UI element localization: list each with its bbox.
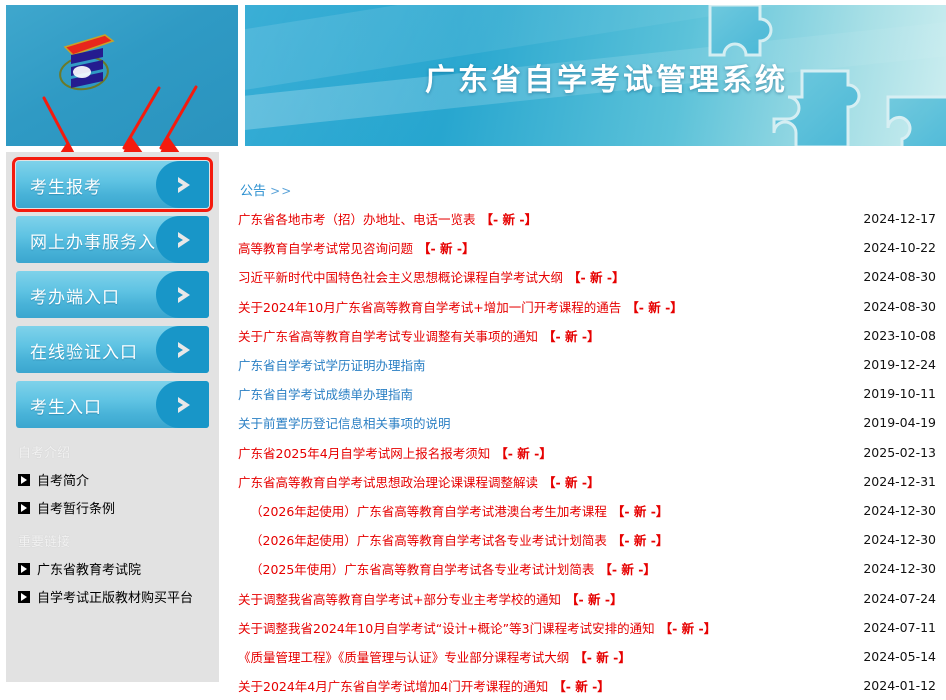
announcement-row[interactable]: 关于广东省高等教育自学考试专业调整有关事项的通知【- 新 -】2023-10-0… <box>238 321 940 350</box>
sidebar-link-label: 广东省教育考试院 <box>37 559 141 578</box>
announcement-title[interactable]: 习近平新时代中国特色社会主义思想概论课程自学考试大纲【- 新 -】 <box>238 267 625 286</box>
announcement-date: 2019-10-11 <box>863 386 940 401</box>
sidebar-button-label: 考办端入口 <box>30 283 120 308</box>
announcement-title[interactable]: （2025年使用）广东省高等教育自学考试各专业考试计划简表【- 新 -】 <box>238 559 656 578</box>
chevron-right-icon <box>173 284 195 306</box>
announcement-title[interactable]: 广东省自学考试成绩单办理指南 <box>238 384 413 403</box>
announcement-row[interactable]: （2025年使用）广东省高等教育自学考试各专业考试计划简表【- 新 -】2024… <box>238 554 940 583</box>
announcement-date: 2024-12-30 <box>863 561 940 576</box>
notice-section-header[interactable]: 公告 >> <box>240 180 292 199</box>
announcement-row[interactable]: 关于调整我省高等教育自学考试+部分专业主考学校的通知【- 新 -】2024-07… <box>238 583 940 612</box>
new-badge: 【- 新 -】 <box>574 650 631 665</box>
announcement-date: 2024-08-30 <box>863 269 940 284</box>
announcement-title[interactable]: 关于广东省高等教育自学考试专业调整有关事项的通知【- 新 -】 <box>238 326 600 345</box>
new-badge: 【- 新 -】 <box>543 475 600 490</box>
chevron-right-icon <box>173 339 195 361</box>
announcement-title[interactable]: （2026年起使用）广东省高等教育自学考试各专业考试计划简表【- 新 -】 <box>238 530 668 549</box>
announcement-date: 2024-08-30 <box>863 299 940 314</box>
sidebar-link-interim-regulations[interactable]: 自考暂行条例 <box>18 498 219 517</box>
announcement-date: 2024-05-14 <box>863 649 940 664</box>
announcement-list: 广东省各地市考（招）办地址、电话一览表【- 新 -】2024-12-17高等教育… <box>238 204 940 700</box>
sidebar-button-exam-office-entry[interactable]: 考办端入口 <box>16 271 209 318</box>
new-badge: 【- 新 -】 <box>599 562 656 577</box>
arrow-square-icon <box>18 502 30 514</box>
announcement-row[interactable]: 关于2024年4月广东省自学考试增加4门开考课程的通知【- 新 -】2024-0… <box>238 671 940 700</box>
arrow-square-icon <box>18 474 30 486</box>
arrow-square-icon <box>18 591 30 603</box>
announcement-date: 2024-07-11 <box>863 620 940 635</box>
announcement-row[interactable]: 关于前置学历登记信息相关事项的说明2019-04-19 <box>238 408 940 437</box>
chevron-right-icon <box>173 229 195 251</box>
announcement-date: 2024-01-12 <box>863 678 940 693</box>
notice-more-link[interactable]: >> <box>270 184 292 198</box>
announcement-date: 2024-12-17 <box>863 211 940 226</box>
announcement-row[interactable]: 广东省自学考试成绩单办理指南2019-10-11 <box>238 379 940 408</box>
announcement-title[interactable]: 高等教育自学考试常见咨询问题【- 新 -】 <box>238 238 475 257</box>
announcement-date: 2019-12-24 <box>863 357 940 372</box>
new-badge: 【- 新 -】 <box>568 270 625 285</box>
announcement-title[interactable]: 广东省各地市考（招）办地址、电话一览表【- 新 -】 <box>238 209 537 228</box>
announcement-row[interactable]: 关于调整我省2024年10月自学考试“设计+概论”等3门课程考试安排的通知【- … <box>238 613 940 642</box>
announcement-title[interactable]: 广东省2025年4月自学考试网上报名报考须知【- 新 -】 <box>238 443 552 462</box>
main-content: 公告 >> 广东省各地市考（招）办地址、电话一览表【- 新 -】2024-12-… <box>238 152 940 682</box>
announcement-date: 2024-12-31 <box>863 474 940 489</box>
announcement-row[interactable]: 广东省各地市考（招）办地址、电话一览表【- 新 -】2024-12-17 <box>238 204 940 233</box>
sidebar-section-title-intro: 自考介绍 <box>18 442 219 461</box>
announcement-date: 2024-07-24 <box>863 591 940 606</box>
announcement-row[interactable]: 高等教育自学考试常见咨询问题【- 新 -】2024-10-22 <box>238 233 940 262</box>
sidebar: 考生报考 网上办事服务入口 考办端入口 在线验证入口 考生入口 自考介绍 <box>6 152 219 682</box>
announcement-row[interactable]: 《质量管理工程》《质量管理与认证》专业部分课程考试大纲【- 新 -】2024-0… <box>238 642 940 671</box>
sidebar-link-gd-exam-authority[interactable]: 广东省教育考试院 <box>18 559 219 578</box>
announcement-row[interactable]: （2026年起使用）广东省高等教育自学考试港澳台考生加考课程【- 新 -】202… <box>238 496 940 525</box>
announcement-date: 2025-02-13 <box>863 445 940 460</box>
sidebar-button-candidate-entry[interactable]: 考生入口 <box>16 381 209 428</box>
announcement-row[interactable]: 广东省2025年4月自学考试网上报名报考须知【- 新 -】2025-02-13 <box>238 438 940 467</box>
page-title: 广东省自学考试管理系统 <box>425 55 788 99</box>
announcement-title[interactable]: 《质量管理工程》《质量管理与认证》专业部分课程考试大纲【- 新 -】 <box>238 647 631 666</box>
announcement-title[interactable]: 关于2024年10月广东省高等教育自学考试+增加一门开考课程的通告【- 新 -】 <box>238 297 683 316</box>
sidebar-link-label: 自考简介 <box>37 470 89 489</box>
announcement-title[interactable]: 关于调整我省高等教育自学考试+部分专业主考学校的通知【- 新 -】 <box>238 589 623 608</box>
sidebar-button-label: 考生报考 <box>30 173 102 198</box>
announcement-row[interactable]: （2026年起使用）广东省高等教育自学考试各专业考试计划简表【- 新 -】202… <box>238 525 940 554</box>
notice-label: 公告 <box>240 184 266 199</box>
announcement-date: 2024-12-30 <box>863 532 940 547</box>
sidebar-button-online-verification-entry[interactable]: 在线验证入口 <box>16 326 209 373</box>
sidebar-link-label: 自考暂行条例 <box>37 498 115 517</box>
announcement-title[interactable]: （2026年起使用）广东省高等教育自学考试港澳台考生加考课程【- 新 -】 <box>238 501 668 520</box>
announcement-title[interactable]: 关于调整我省2024年10月自学考试“设计+概论”等3门课程考试安排的通知【- … <box>238 618 716 637</box>
new-badge: 【- 新 -】 <box>660 621 717 636</box>
announcement-date: 2019-04-19 <box>863 415 940 430</box>
chevron-right-icon <box>173 394 195 416</box>
new-badge: 【- 新 -】 <box>612 533 669 548</box>
announcement-row[interactable]: 习近平新时代中国特色社会主义思想概论课程自学考试大纲【- 新 -】2024-08… <box>238 262 940 291</box>
sidebar-button-kaosheng-baokao[interactable]: 考生报考 <box>16 161 209 208</box>
sidebar-link-textbook-platform[interactable]: 自学考试正版教材购买平台 <box>18 587 219 606</box>
announcement-title[interactable]: 广东省高等教育自学考试思想政治理论课课程调整解读【- 新 -】 <box>238 472 600 491</box>
sidebar-button-label: 在线验证入口 <box>30 338 138 363</box>
new-badge: 【- 新 -】 <box>481 212 538 227</box>
logo-panel <box>6 5 238 146</box>
announcement-date: 2023-10-08 <box>863 328 940 343</box>
announcement-date: 2024-12-30 <box>863 503 940 518</box>
new-badge: 【- 新 -】 <box>626 300 683 315</box>
announcement-title[interactable]: 关于前置学历登记信息相关事项的说明 <box>238 413 451 432</box>
new-badge: 【- 新 -】 <box>495 446 552 461</box>
sidebar-link-self-study-intro[interactable]: 自考简介 <box>18 470 219 489</box>
chevron-right-icon <box>173 174 195 196</box>
arrow-square-icon <box>18 563 30 575</box>
gdeea-logo-icon <box>51 25 121 105</box>
new-badge: 【- 新 -】 <box>553 679 610 694</box>
announcement-row[interactable]: 关于2024年10月广东省高等教育自学考试+增加一门开考课程的通告【- 新 -】… <box>238 292 940 321</box>
sidebar-button-label: 考生入口 <box>30 393 102 418</box>
announcement-title[interactable]: 广东省自学考试学历证明办理指南 <box>238 355 426 374</box>
new-badge: 【- 新 -】 <box>418 241 475 256</box>
announcement-row[interactable]: 广东省高等教育自学考试思想政治理论课课程调整解读【- 新 -】2024-12-3… <box>238 467 940 496</box>
title-banner: 广东省自学考试管理系统 <box>245 5 946 146</box>
new-badge: 【- 新 -】 <box>612 504 669 519</box>
new-badge: 【- 新 -】 <box>543 329 600 344</box>
announcement-row[interactable]: 广东省自学考试学历证明办理指南2019-12-24 <box>238 350 940 379</box>
sidebar-button-online-service-entry[interactable]: 网上办事服务入口 <box>16 216 209 263</box>
announcement-date: 2024-10-22 <box>863 240 940 255</box>
sidebar-section-title-links: 重要链接 <box>18 531 219 550</box>
sidebar-button-label: 网上办事服务入口 <box>30 228 174 253</box>
announcement-title[interactable]: 关于2024年4月广东省自学考试增加4门开考课程的通知【- 新 -】 <box>238 676 610 695</box>
new-badge: 【- 新 -】 <box>566 592 623 607</box>
page-header: 广东省自学考试管理系统 <box>0 0 946 146</box>
sidebar-link-label: 自学考试正版教材购买平台 <box>37 587 193 606</box>
